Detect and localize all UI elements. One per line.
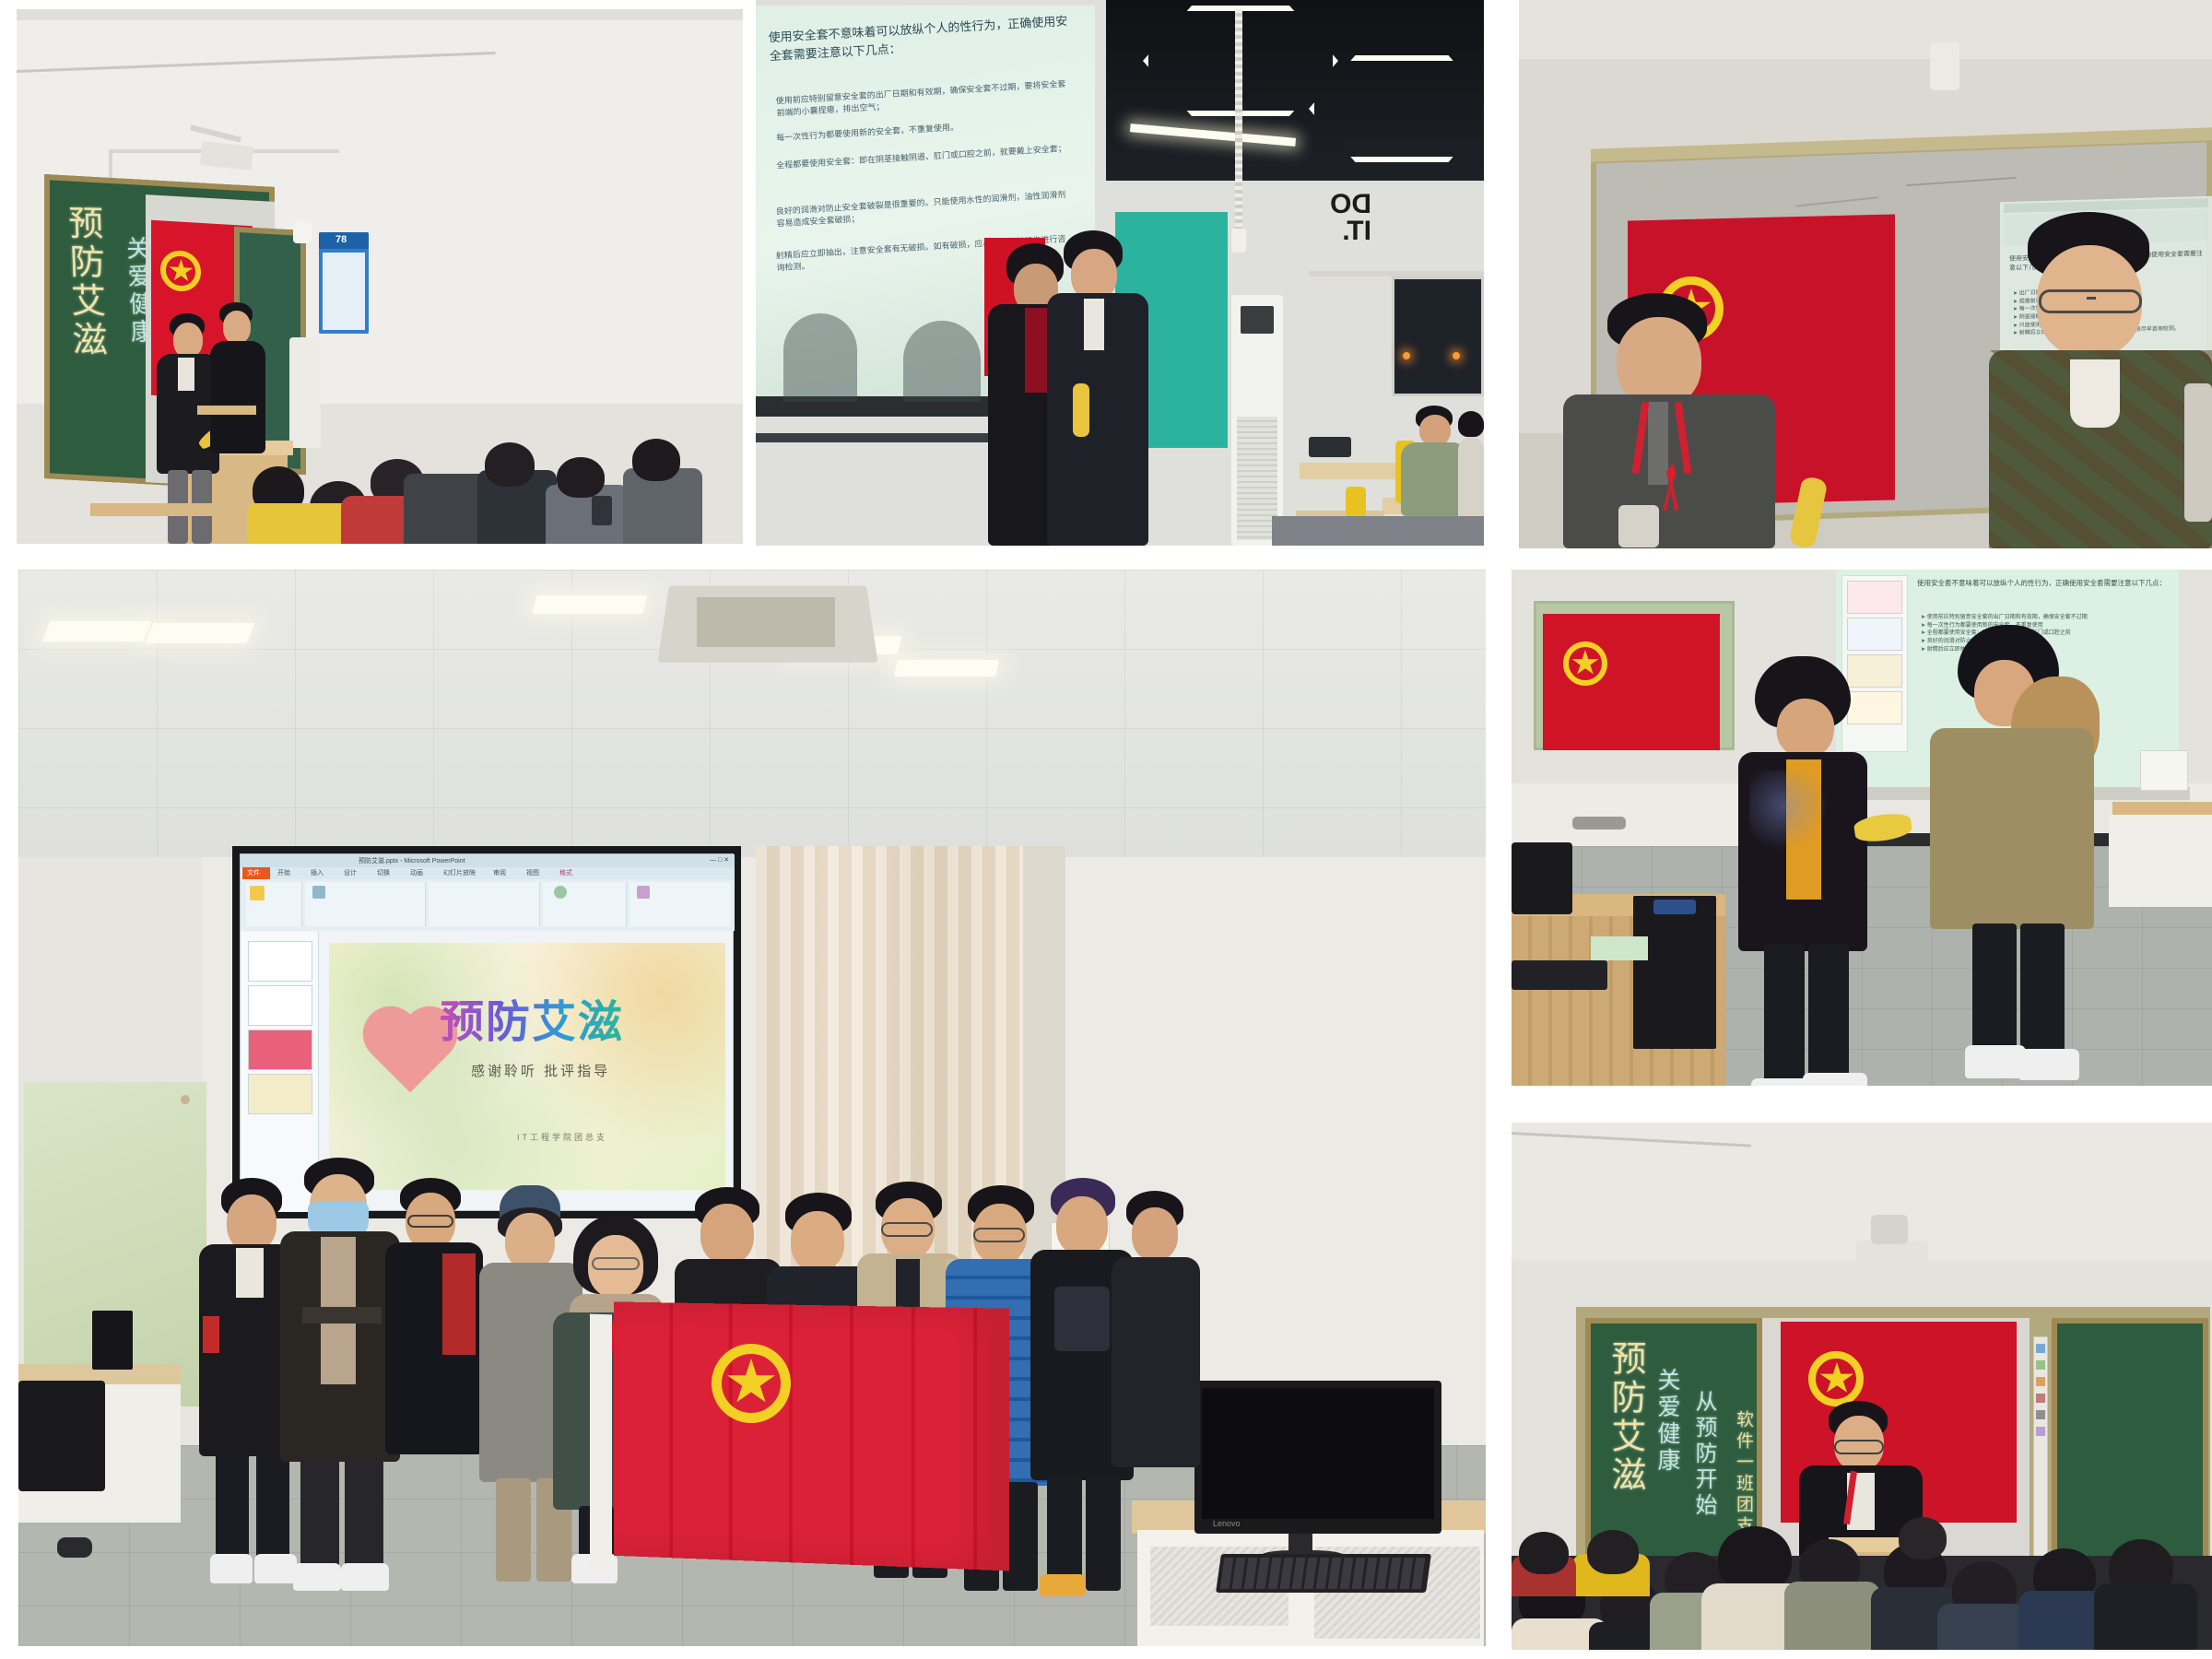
demo-student-right <box>1930 625 2094 1086</box>
screen-heading: 使用安全套不意味着可以放纵个人的性行为，正确使用安全套需要注意以下几点： <box>1917 579 2166 589</box>
window <box>1392 276 1484 396</box>
youth-league-flag <box>1543 614 1720 750</box>
student-left <box>1563 293 1775 548</box>
photo-projection-demo: 使用安全套不意味着可以放纵个人的性行为，正确使用安全套需要注意以下几点： 使用前… <box>756 0 1484 546</box>
ppt-tab-transition[interactable]: 切换 <box>377 868 390 877</box>
ppt-tab-insert[interactable]: 插入 <box>311 868 324 877</box>
ceiling-light <box>894 660 999 677</box>
ppt-thumbnail[interactable] <box>248 985 312 1026</box>
do-it-wall-graphic: DOIT. <box>1307 192 1371 265</box>
ppt-thumbnail[interactable] <box>248 941 312 982</box>
keyboard[interactable] <box>1512 960 1607 990</box>
ppt-tab-slideshow[interactable]: 幻灯片放映 <box>443 868 476 877</box>
ceiling-projector <box>1856 1241 1928 1268</box>
left-monitor <box>18 1381 105 1491</box>
flag-pole-sleeve <box>590 1314 612 1573</box>
blackboard-slogan-2: 从预防开始 <box>1692 1390 1714 1519</box>
eyeglasses <box>2039 289 2142 313</box>
photo-lecture-audience: 预防艾滋 关爱健康 从预防开始 软件一班团支部 <box>1512 1123 2212 1650</box>
wall-notice <box>2140 750 2188 791</box>
ppt-tab-view[interactable]: 视图 <box>526 868 539 877</box>
group-student <box>385 1178 483 1454</box>
ppt-slide-subtitle: 感谢聆听 批评指导 <box>471 1061 610 1080</box>
ppt-tab-review[interactable]: 审阅 <box>493 868 506 877</box>
monitor-brand-label: Lenovo <box>1213 1519 1241 1528</box>
desk-speaker <box>92 1311 133 1370</box>
photo-collage: 预防艾滋 关爱健康 从预防开始 软件一班团支部 78 <box>0 0 2212 1659</box>
ppt-slide-title: 预防艾滋 <box>440 985 624 1050</box>
student-right <box>1989 212 2212 548</box>
photo-two-students-flag: 使用安全套不意味着可以放纵个人的性行为，正确使用安全套需要注意以下几点： ➤ 出… <box>1519 0 2212 548</box>
ppt-thumbnail[interactable] <box>248 1030 312 1070</box>
ppt-thumbnail[interactable] <box>248 1074 312 1114</box>
banana-prop <box>1073 383 1089 437</box>
blackboard-slogan-1: 关爱健康 <box>1655 1368 1678 1475</box>
group-student <box>1112 1191 1200 1467</box>
blackboard-main-title: 预防艾滋 <box>64 204 104 359</box>
ppt-slide-footer: IT工程学院团总支 <box>517 1131 607 1143</box>
group-student <box>280 1158 400 1591</box>
presenter-right <box>208 302 273 477</box>
photo-banana-demo: 使用安全套不意味着可以放纵个人的性行为，正确使用安全套需要注意以下几点： ➤ 使… <box>1512 570 2212 1086</box>
ppt-tab-format[interactable]: 格式 <box>559 868 572 877</box>
photo-classroom-blackboard: 预防艾滋 关爱健康 从预防开始 软件一班团支部 78 <box>17 9 743 544</box>
ceiling-light <box>42 621 152 641</box>
smartboard-toolbar[interactable] <box>2033 1336 2048 1569</box>
photo-group-flag: 预防艾滋.pptx - Microsoft PowerPoint — □ ✕ 文… <box>18 570 1486 1646</box>
desk-speaker <box>1633 896 1716 1049</box>
demo-student-left <box>1738 656 1867 1086</box>
ppt-tab-animation[interactable]: 动画 <box>410 868 423 877</box>
poster-number: 78 <box>335 234 347 245</box>
ceiling-light <box>146 623 255 643</box>
blackboard-main-title: 预防艾滋 <box>1607 1340 1642 1495</box>
ppt-tab-file-label: 文件 <box>247 868 260 877</box>
demo-student-right <box>1047 230 1148 546</box>
ppt-tab-design[interactable]: 设计 <box>344 868 357 877</box>
ppt-tab-home[interactable]: 开始 <box>277 868 290 877</box>
ceiling-light <box>533 595 648 614</box>
monitor <box>1512 842 1572 914</box>
ppt-window-title: 预防艾滋.pptx - Microsoft PowerPoint <box>359 856 465 865</box>
safety-poster: 78 <box>319 232 369 334</box>
